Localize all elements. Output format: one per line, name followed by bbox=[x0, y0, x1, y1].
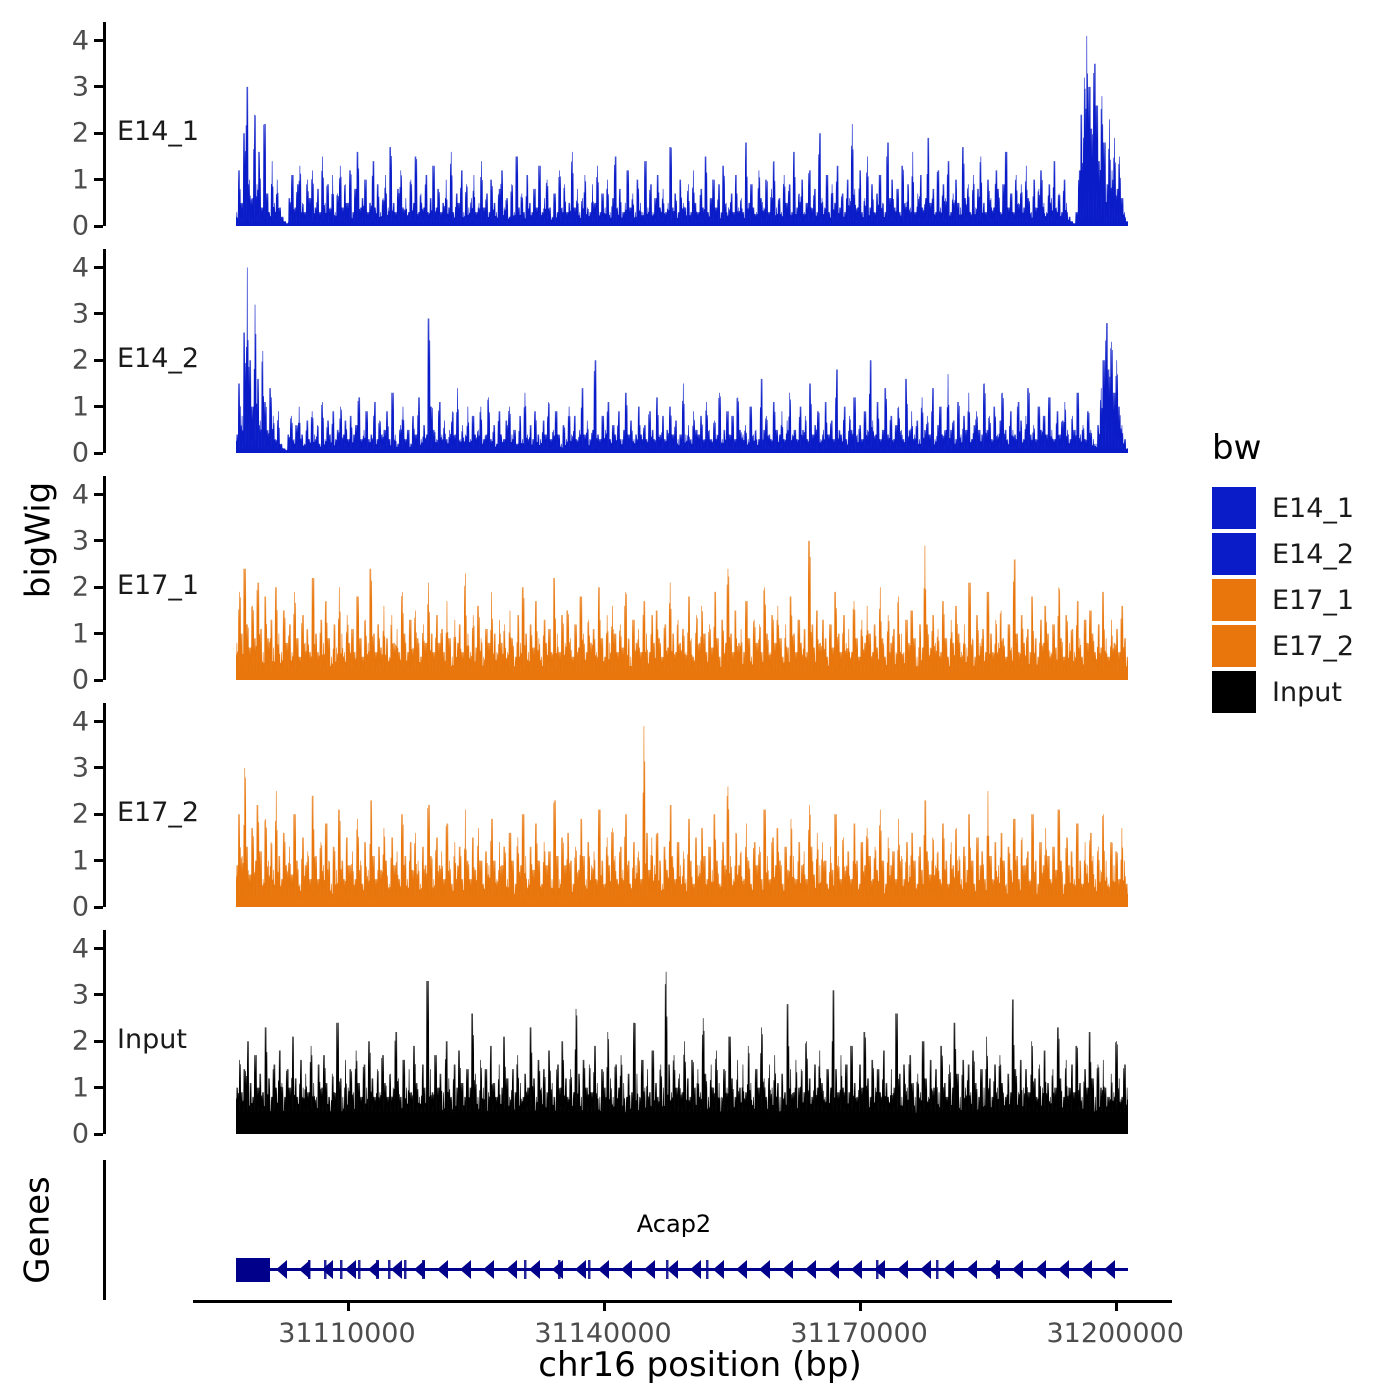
track-panel-e17_2: 01234E17_2 bbox=[103, 703, 1172, 907]
y-tick-label: 0 bbox=[72, 1121, 89, 1148]
y-tick bbox=[94, 679, 103, 682]
x-tick bbox=[603, 1300, 606, 1311]
legend-label: E17_1 bbox=[1272, 585, 1354, 616]
y-tick-label: 2 bbox=[72, 1028, 89, 1055]
legend-swatch-e14_2 bbox=[1212, 533, 1256, 575]
y-tick-label: 0 bbox=[72, 440, 89, 467]
y-tick-label: 3 bbox=[72, 754, 89, 781]
y-tick bbox=[94, 947, 103, 950]
y-axis-label: bigWig bbox=[8, 330, 68, 750]
y-axis-line bbox=[103, 22, 106, 226]
y-tick bbox=[94, 632, 103, 635]
x-axis-line bbox=[193, 1300, 1172, 1303]
legend-label: E17_2 bbox=[1272, 631, 1354, 662]
y-tick bbox=[94, 766, 103, 769]
signal-area-e17_1 bbox=[236, 476, 1128, 680]
legend-item-e17_2[interactable]: E17_2 bbox=[1212, 624, 1354, 668]
y-tick-label: 0 bbox=[72, 667, 89, 694]
y-tick-label: 1 bbox=[72, 847, 89, 874]
legend-items: E14_1E14_2E17_1E17_2Input bbox=[1212, 486, 1354, 714]
track-label-e17_1: E17_1 bbox=[117, 570, 199, 601]
y-tick bbox=[94, 813, 103, 816]
track-panel-e14_1: 01234E14_1 bbox=[103, 22, 1172, 226]
legend-item-e17_1[interactable]: E17_1 bbox=[1212, 578, 1354, 622]
y-tick-label: 4 bbox=[72, 935, 89, 962]
legend-label: E14_1 bbox=[1272, 493, 1354, 524]
track-panel-input: 01234Input bbox=[103, 930, 1172, 1134]
signal-area-e14_2 bbox=[236, 249, 1128, 453]
y-tick-label: 2 bbox=[72, 347, 89, 374]
y-tick-label: 2 bbox=[72, 120, 89, 147]
y-tick-label: 3 bbox=[72, 300, 89, 327]
y-tick-label: 2 bbox=[72, 574, 89, 601]
y-tick-label: 1 bbox=[72, 393, 89, 420]
y-tick bbox=[94, 39, 103, 42]
y-tick-label: 3 bbox=[72, 527, 89, 554]
legend-label: E14_2 bbox=[1272, 539, 1354, 570]
y-tick bbox=[94, 266, 103, 269]
y-tick-label: 3 bbox=[72, 73, 89, 100]
y-tick-label: 0 bbox=[72, 894, 89, 921]
track-label-input: Input bbox=[117, 1024, 187, 1055]
y-axis-line bbox=[103, 249, 106, 453]
x-axis-title: chr16 position (bp) bbox=[0, 1345, 1400, 1385]
signal-area-input bbox=[236, 930, 1128, 1134]
legend: bw E14_1E14_2E17_1E17_2Input bbox=[1212, 428, 1354, 716]
y-tick-label: 3 bbox=[72, 981, 89, 1008]
y-tick-label: 4 bbox=[72, 708, 89, 735]
y-tick bbox=[94, 993, 103, 996]
y-tick bbox=[94, 720, 103, 723]
gene-name-label: Acap2 bbox=[637, 1210, 711, 1238]
signal-area-e17_2 bbox=[236, 703, 1128, 907]
y-tick bbox=[94, 178, 103, 181]
y-tick bbox=[94, 586, 103, 589]
y-tick bbox=[94, 1133, 103, 1136]
y-tick-label: 4 bbox=[72, 481, 89, 508]
y-tick-label: 1 bbox=[72, 1074, 89, 1101]
legend-swatch-e14_1 bbox=[1212, 487, 1256, 529]
y-axis-line bbox=[103, 703, 106, 907]
x-tick bbox=[1115, 1300, 1118, 1311]
genes-axis-label: Genes bbox=[8, 1140, 68, 1320]
track-panel-e14_2: 01234E14_2 bbox=[103, 249, 1172, 453]
track-label-e14_2: E14_2 bbox=[117, 343, 199, 374]
legend-swatch-e17_2 bbox=[1212, 625, 1256, 667]
y-tick bbox=[94, 493, 103, 496]
y-tick bbox=[94, 539, 103, 542]
legend-title: bw bbox=[1212, 428, 1354, 468]
y-tick-label: 4 bbox=[72, 27, 89, 54]
y-tick bbox=[94, 225, 103, 228]
y-axis-line bbox=[103, 476, 106, 680]
y-tick bbox=[94, 859, 103, 862]
y-tick-label: 1 bbox=[72, 620, 89, 647]
track-panel-e17_1: 01234E17_1 bbox=[103, 476, 1172, 680]
y-tick bbox=[94, 452, 103, 455]
legend-label: Input bbox=[1272, 677, 1342, 708]
y-tick bbox=[94, 1086, 103, 1089]
y-tick-label: 4 bbox=[72, 254, 89, 281]
track-label-e17_2: E17_2 bbox=[117, 797, 199, 828]
y-axis-line bbox=[103, 930, 106, 1134]
y-tick bbox=[94, 85, 103, 88]
y-tick bbox=[94, 132, 103, 135]
y-tick-label: 2 bbox=[72, 801, 89, 828]
y-tick bbox=[94, 312, 103, 315]
signal-area-e14_1 bbox=[236, 22, 1128, 226]
y-tick bbox=[94, 405, 103, 408]
x-tick bbox=[347, 1300, 350, 1311]
legend-swatch-input bbox=[1212, 671, 1256, 713]
y-tick bbox=[94, 906, 103, 909]
legend-swatch-e17_1 bbox=[1212, 579, 1256, 621]
track-label-e14_1: E14_1 bbox=[117, 116, 199, 147]
y-tick bbox=[94, 1040, 103, 1043]
x-tick bbox=[859, 1300, 862, 1311]
genes-axis-line bbox=[103, 1160, 106, 1300]
y-tick bbox=[94, 359, 103, 362]
y-tick-label: 1 bbox=[72, 166, 89, 193]
legend-item-input[interactable]: Input bbox=[1212, 670, 1354, 714]
legend-item-e14_2[interactable]: E14_2 bbox=[1212, 532, 1354, 576]
legend-item-e14_1[interactable]: E14_1 bbox=[1212, 486, 1354, 530]
gene-model-acap2 bbox=[236, 1250, 1134, 1294]
y-tick-label: 0 bbox=[72, 213, 89, 240]
